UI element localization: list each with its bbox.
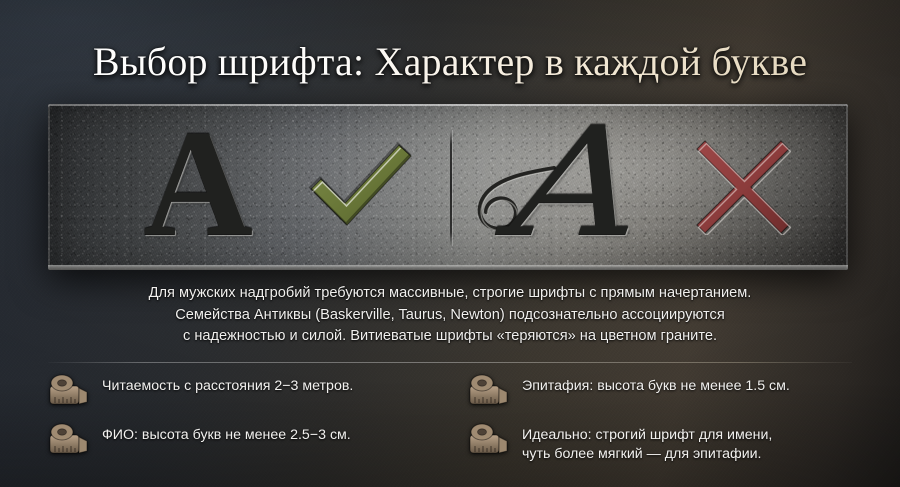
list-item: Идеально: строгий шрифт для имени, чуть … (468, 421, 888, 464)
measuring-tape-icon (468, 373, 510, 407)
infographic-page: Выбор шрифта: Характер в каждой букве A (0, 0, 900, 487)
paragraph-line: Для мужских надгробий требуются массивны… (60, 283, 840, 305)
list-item: ФИО: высота букв не менее 2.5−3 см. (48, 421, 448, 456)
list-item-text: Эпитафия: высота букв не менее 1.5 см. (522, 372, 790, 396)
check-mark-cell (266, 104, 456, 270)
section-divider (48, 362, 852, 363)
measuring-tape-icon (48, 373, 90, 407)
paragraph-line: с надежностью и силой. Витиеватые шрифты… (60, 326, 840, 348)
measuring-tape-icon (468, 422, 510, 456)
cross-mark-icon (695, 139, 791, 235)
granite-panel-surface: A (48, 104, 848, 270)
granite-panel: A (48, 104, 848, 270)
cross-mark-cell (648, 104, 838, 270)
list-item: Читаемость с расстояния 2−3 метров. (48, 372, 448, 407)
script-letter-a: A (505, 108, 647, 258)
check-mark-icon (305, 139, 417, 235)
list-item-text: Идеально: строгий шрифт для имени, чуть … (522, 421, 772, 464)
list-item-line: Эпитафия: высота букв не менее 1.5 см. (522, 377, 790, 396)
panel-bottom-bevel (48, 265, 848, 270)
bullet-list-right: Эпитафия: высота букв не менее 1.5 см. (468, 372, 888, 478)
list-item-line: чуть более мягкий — для эпитафии. (522, 445, 772, 464)
paragraph-line: Семейства Антиквы (Baskerville, Taurus, … (60, 305, 840, 327)
bullet-list-left: Читаемость с расстояния 2−3 метров. (48, 372, 448, 470)
panel-vertical-divider (450, 130, 452, 246)
measuring-tape-icon (48, 422, 90, 456)
serif-letter-a: A (143, 107, 253, 259)
list-item-text: ФИО: высота букв не менее 2.5−3 см. (102, 421, 351, 445)
list-item-line: ФИО: высота букв не менее 2.5−3 см. (102, 426, 351, 445)
description-paragraph: Для мужских надгробий требуются массивны… (60, 283, 840, 348)
list-item-line: Идеально: строгий шрифт для имени, (522, 426, 772, 445)
list-item-text: Читаемость с расстояния 2−3 метров. (102, 372, 353, 396)
page-title: Выбор шрифта: Характер в каждой букве (0, 38, 900, 86)
list-item: Эпитафия: высота букв не менее 1.5 см. (468, 372, 888, 407)
list-item-line: Читаемость с расстояния 2−3 метров. (102, 377, 353, 396)
